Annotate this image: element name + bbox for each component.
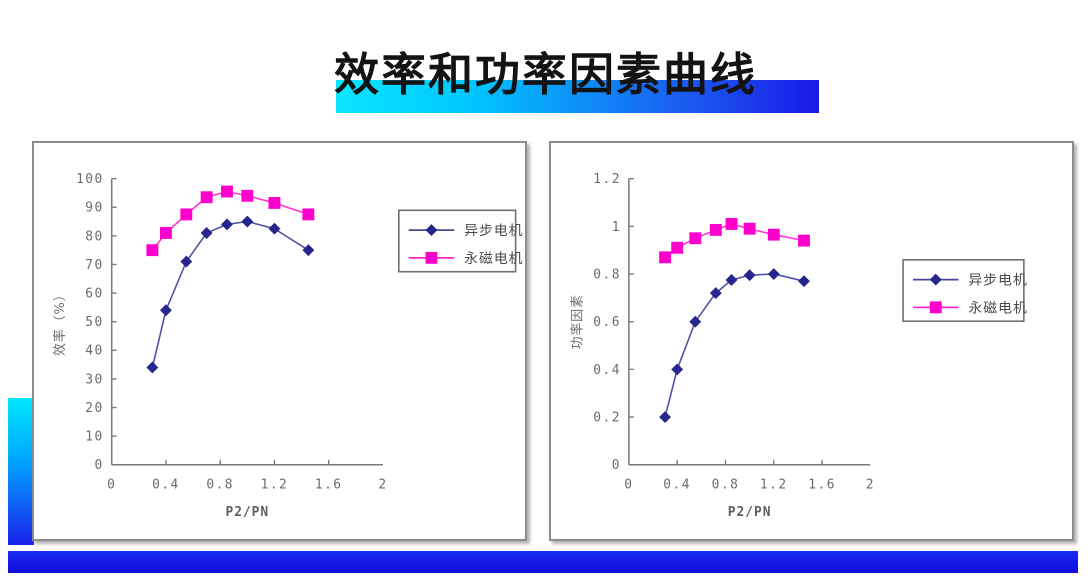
- data-point-marker: [221, 218, 233, 230]
- y-tick-label: 90: [85, 201, 103, 216]
- data-point-marker: [269, 197, 281, 209]
- data-point-marker: [726, 218, 738, 230]
- data-point-marker: [768, 229, 780, 241]
- y-tick-label: 50: [85, 315, 103, 330]
- x-tick-label: 2: [378, 478, 387, 493]
- y-tick-label: 0.6: [593, 315, 621, 330]
- data-point-marker: [180, 208, 192, 220]
- chart-efficiency: 010203040506070809010000.40.81.21.62P2/P…: [32, 141, 527, 541]
- data-point-marker: [160, 227, 172, 239]
- x-tick-label: 2: [866, 478, 875, 493]
- x-tick-label: 1.2: [261, 478, 289, 493]
- data-point-marker: [798, 235, 810, 247]
- series-line-异步电机: [152, 222, 308, 368]
- y-tick-label: 60: [85, 287, 103, 302]
- data-point-marker: [146, 362, 158, 374]
- x-tick-label: 1.2: [760, 478, 788, 493]
- x-tick-label: 0.8: [206, 478, 234, 493]
- y-tick-label: 70: [85, 258, 103, 273]
- decorative-left-gradient-bracket: [8, 398, 34, 550]
- data-point-marker: [180, 256, 192, 268]
- efficiency-plot: 010203040506070809010000.40.81.21.62P2/P…: [34, 143, 525, 539]
- data-point-marker: [671, 242, 683, 254]
- data-point-marker: [302, 208, 314, 220]
- y-tick-label: 0: [95, 458, 104, 473]
- y-tick-label: 80: [85, 229, 103, 244]
- series-line-永磁电机: [152, 192, 308, 251]
- data-point-marker: [689, 316, 701, 328]
- data-point-marker: [744, 223, 756, 235]
- x-axis-title: P2/PN: [225, 505, 269, 520]
- series-line-异步电机: [665, 274, 804, 417]
- data-point-marker: [744, 269, 756, 281]
- legend-marker: [426, 252, 438, 264]
- x-tick-label: 0.8: [712, 478, 740, 493]
- legend-label: 永磁电机: [968, 300, 1027, 316]
- x-tick-label: 1.6: [808, 478, 836, 493]
- chart-power-factor: 00.20.40.60.811.200.40.81.21.62P2/PN功率因素…: [549, 141, 1074, 541]
- data-point-marker: [160, 304, 172, 316]
- legend-label: 永磁电机: [464, 251, 523, 267]
- data-point-marker: [201, 191, 213, 203]
- data-point-marker: [201, 227, 213, 239]
- data-point-marker: [798, 275, 810, 287]
- y-tick-label: 40: [85, 344, 103, 359]
- y-tick-label: 10: [85, 430, 103, 445]
- legend-marker: [930, 301, 942, 313]
- data-point-marker: [671, 363, 683, 375]
- page-title: 效率和功率因素曲线: [0, 38, 1091, 103]
- legend-label: 异步电机: [464, 223, 523, 239]
- data-point-marker: [689, 232, 701, 244]
- y-tick-label: 1.2: [593, 172, 621, 187]
- y-tick-label: 30: [85, 372, 103, 387]
- y-tick-label: 20: [85, 401, 103, 416]
- data-point-marker: [659, 251, 671, 263]
- x-tick-label: 0: [107, 478, 116, 493]
- data-point-marker: [710, 224, 722, 236]
- y-tick-label: 0.4: [593, 363, 621, 378]
- title-area: 效率和功率因素曲线: [0, 18, 1091, 110]
- decorative-bottom-blue-bar: [8, 551, 1078, 573]
- data-point-marker: [146, 244, 158, 256]
- data-point-marker: [221, 186, 233, 198]
- data-point-marker: [269, 223, 281, 235]
- x-axis-title: P2/PN: [728, 505, 772, 520]
- power-factor-plot: 00.20.40.60.811.200.40.81.21.62P2/PN功率因素…: [551, 143, 1072, 539]
- data-point-marker: [302, 244, 314, 256]
- y-axis-title: 功率因素: [569, 294, 585, 349]
- data-point-marker: [659, 411, 671, 423]
- data-point-marker: [241, 190, 253, 202]
- y-tick-label: 0.8: [593, 267, 621, 282]
- y-tick-label: 100: [76, 172, 104, 187]
- y-tick-label: 0: [612, 458, 621, 473]
- x-tick-label: 0.4: [152, 478, 180, 493]
- y-tick-label: 1: [612, 220, 621, 235]
- data-point-marker: [768, 268, 780, 280]
- x-tick-label: 0.4: [663, 478, 691, 493]
- y-axis-title: 效率（%）: [52, 287, 68, 356]
- legend-label: 异步电机: [968, 273, 1027, 289]
- x-tick-label: 0: [624, 478, 633, 493]
- data-point-marker: [241, 216, 253, 228]
- y-tick-label: 0.2: [593, 411, 621, 426]
- x-tick-label: 1.6: [315, 478, 343, 493]
